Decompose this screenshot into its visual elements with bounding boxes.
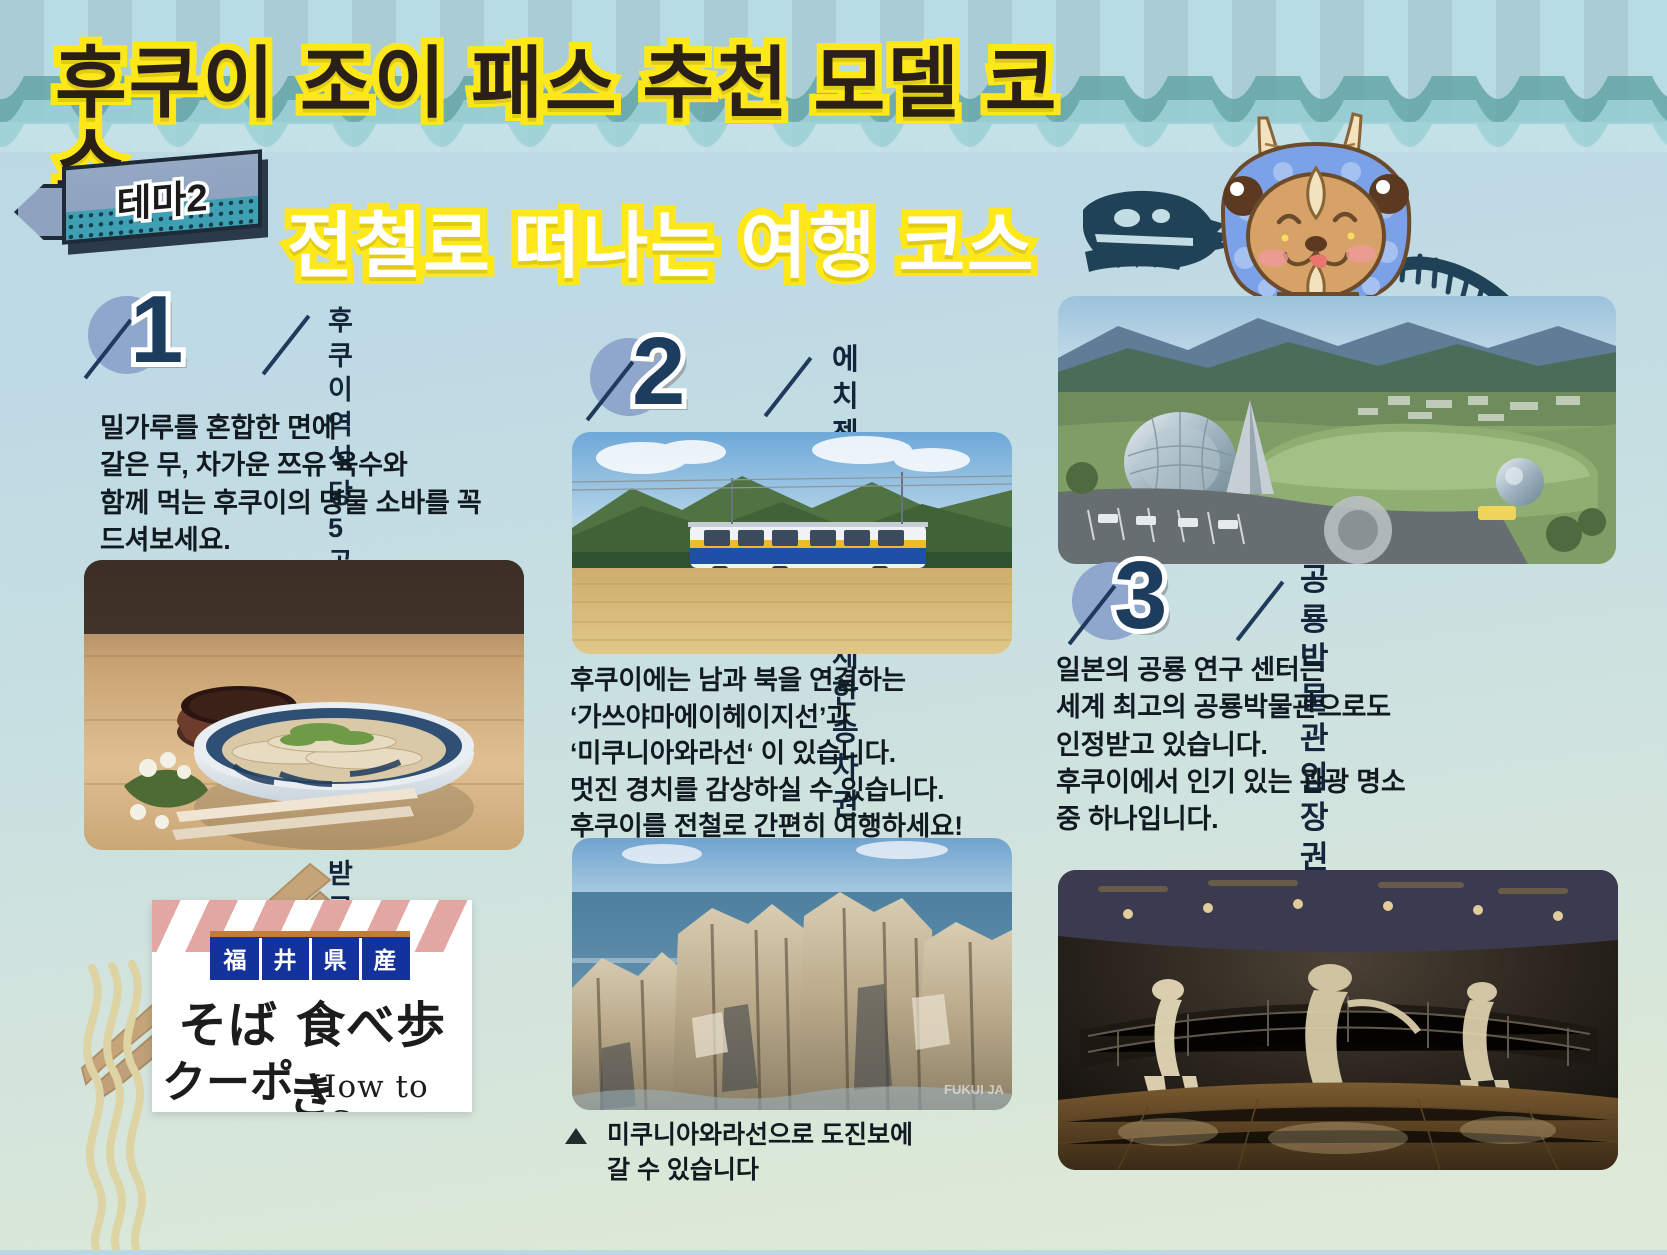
soba-bowl-photo xyxy=(84,560,524,850)
theme-ribbon-badge: 테마2 xyxy=(62,158,272,248)
step-2-number: 2 xyxy=(632,324,685,420)
coupon-subtitle-jp: クーポン xyxy=(162,1046,301,1112)
dinosaur-museum-interior-photo xyxy=(1058,870,1618,1170)
step-2-body-text: 후쿠이에는 남과 북을 연결하는 ‘가쓰야마에이헤이지선’과 ‘미쿠니아와라선‘… xyxy=(570,662,1030,845)
coupon-subtitle-en: How to uSe xyxy=(309,1069,462,1112)
cliff-caption-text: 미쿠니아와라선으로 도진보에 갈 수 있습니다 xyxy=(607,1118,1035,1188)
coupon-noren-text: 福 井 県 産 xyxy=(210,936,410,980)
noren-char-0: 福 xyxy=(224,941,247,975)
noren-char-3: 産 xyxy=(374,941,397,975)
title-sub-text: 전철로 떠나는 여행 코스 xyxy=(287,211,1125,284)
dinosaur-museum-exterior-photo xyxy=(1058,296,1616,564)
svg-text:FUKUI JA: FUKUI JA xyxy=(944,1082,1005,1097)
triangle-bullet-icon xyxy=(565,1128,587,1144)
noren-char-2: 県 xyxy=(324,941,347,975)
cliff-photo-caption: 미쿠니아와라선으로 도진보에 갈 수 있습니다 xyxy=(565,1118,1035,1188)
coupon-noren-banner: 福 井 県 産 xyxy=(210,936,410,980)
step-3-slash-right xyxy=(1236,581,1285,642)
step-3-body-text: 일본의 공룡 연구 센터는 세계 최고의 공룡박물관으로도 인정받고 있습니다.… xyxy=(1056,652,1576,838)
step-1-slash-right xyxy=(262,315,311,376)
step-1-body-text: 밀가루를 혼합한 면에 갈은 무, 차가운 쯔유 육수와 함께 먹는 후쿠이의 … xyxy=(100,410,570,559)
noren-char-1: 井 xyxy=(274,941,297,975)
soba-coupon-card: 福 井 県 産 そば 食べ歩き クーポン How to uSe xyxy=(152,900,472,1112)
tojinbo-cliff-photo: FUKUI JA xyxy=(572,838,1012,1110)
step-2-slash-right xyxy=(764,357,813,418)
echizen-train-photo xyxy=(572,432,1012,654)
step-1-number: 1 xyxy=(130,282,183,378)
step-3-number: 3 xyxy=(1114,548,1167,644)
